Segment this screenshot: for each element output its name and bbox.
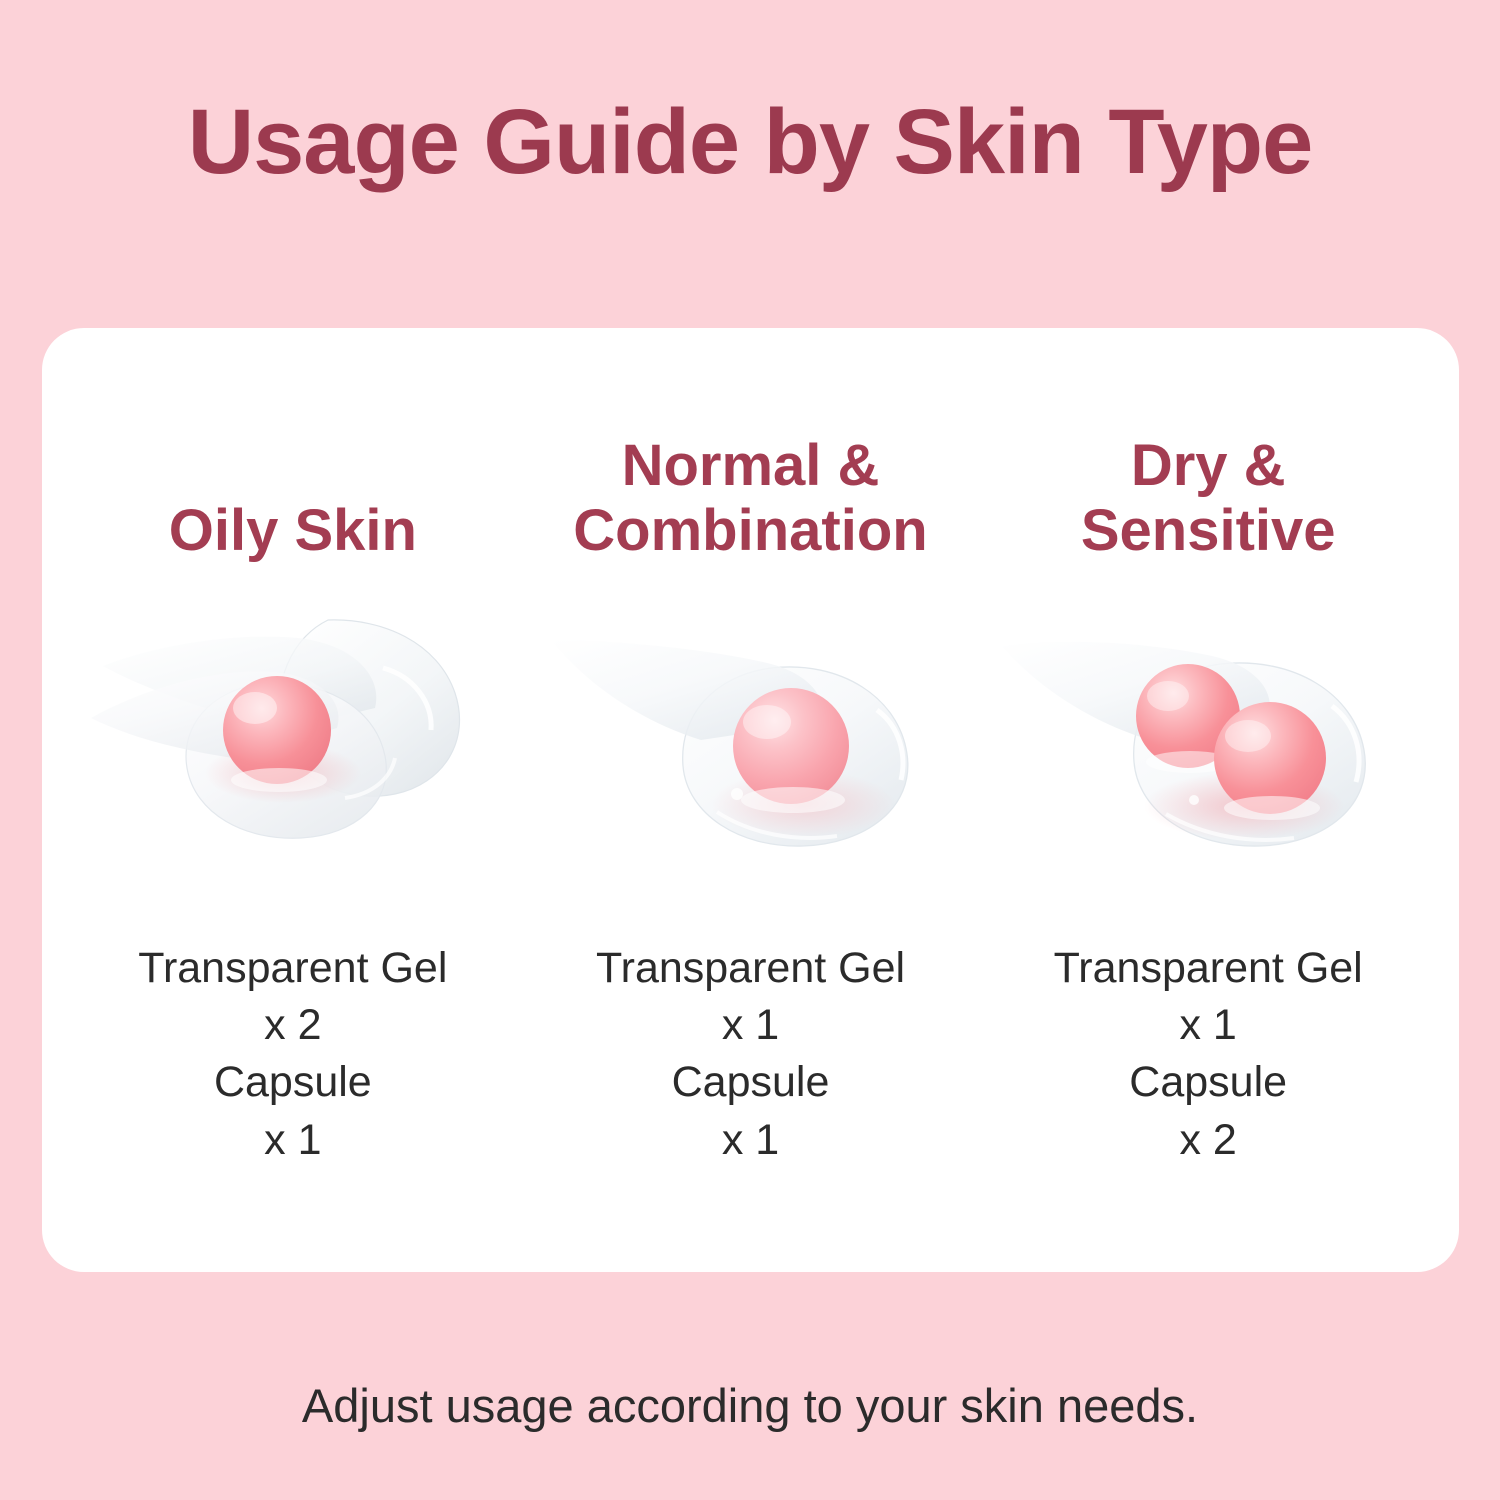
product-art-oily-skin <box>83 598 503 898</box>
caption-line: x 1 <box>1054 997 1363 1054</box>
column-heading-line: Normal & <box>622 433 880 499</box>
caption-line: x 2 <box>138 997 447 1054</box>
column-heading-line: Dry & <box>1131 433 1286 499</box>
column-heading-line: Oily Skin <box>169 498 417 564</box>
caption-line: Transparent Gel <box>596 940 905 997</box>
caption-normal-combination: Transparent Gel x 1 Capsule x 1 <box>596 940 905 1169</box>
caption-line: Capsule <box>1054 1054 1363 1111</box>
usage-guide-card: Oily Skin <box>42 328 1459 1272</box>
column-normal-combination: Normal & Combination <box>522 328 980 1169</box>
caption-line: x 1 <box>596 997 905 1054</box>
column-heading-normal-combination: Normal & Combination <box>573 328 927 568</box>
column-heading-dry-sensitive: Dry & Sensitive <box>1081 328 1336 568</box>
column-heading-line: Combination <box>573 498 927 564</box>
column-heading-oily-skin: Oily Skin <box>169 328 417 568</box>
caption-line: x 1 <box>138 1112 447 1169</box>
caption-line: Transparent Gel <box>1054 940 1363 997</box>
caption-line: x 1 <box>596 1112 905 1169</box>
caption-dry-sensitive: Transparent Gel x 1 Capsule x 2 <box>1054 940 1363 1169</box>
skin-type-columns: Oily Skin <box>42 328 1459 1272</box>
caption-oily-skin: Transparent Gel x 2 Capsule x 1 <box>138 940 447 1169</box>
product-art-dry-sensitive <box>998 598 1418 898</box>
caption-line: Capsule <box>138 1054 447 1111</box>
footer-note: Adjust usage according to your skin need… <box>0 1378 1500 1433</box>
column-dry-sensitive: Dry & Sensitive <box>979 328 1437 1169</box>
caption-line: Transparent Gel <box>138 940 447 997</box>
column-oily-skin: Oily Skin <box>64 328 522 1169</box>
page-title: Usage Guide by Skin Type <box>0 96 1500 188</box>
column-heading-line: Sensitive <box>1081 498 1336 564</box>
caption-line: x 2 <box>1054 1112 1363 1169</box>
product-art-normal-combination <box>541 598 961 898</box>
caption-line: Capsule <box>596 1054 905 1111</box>
